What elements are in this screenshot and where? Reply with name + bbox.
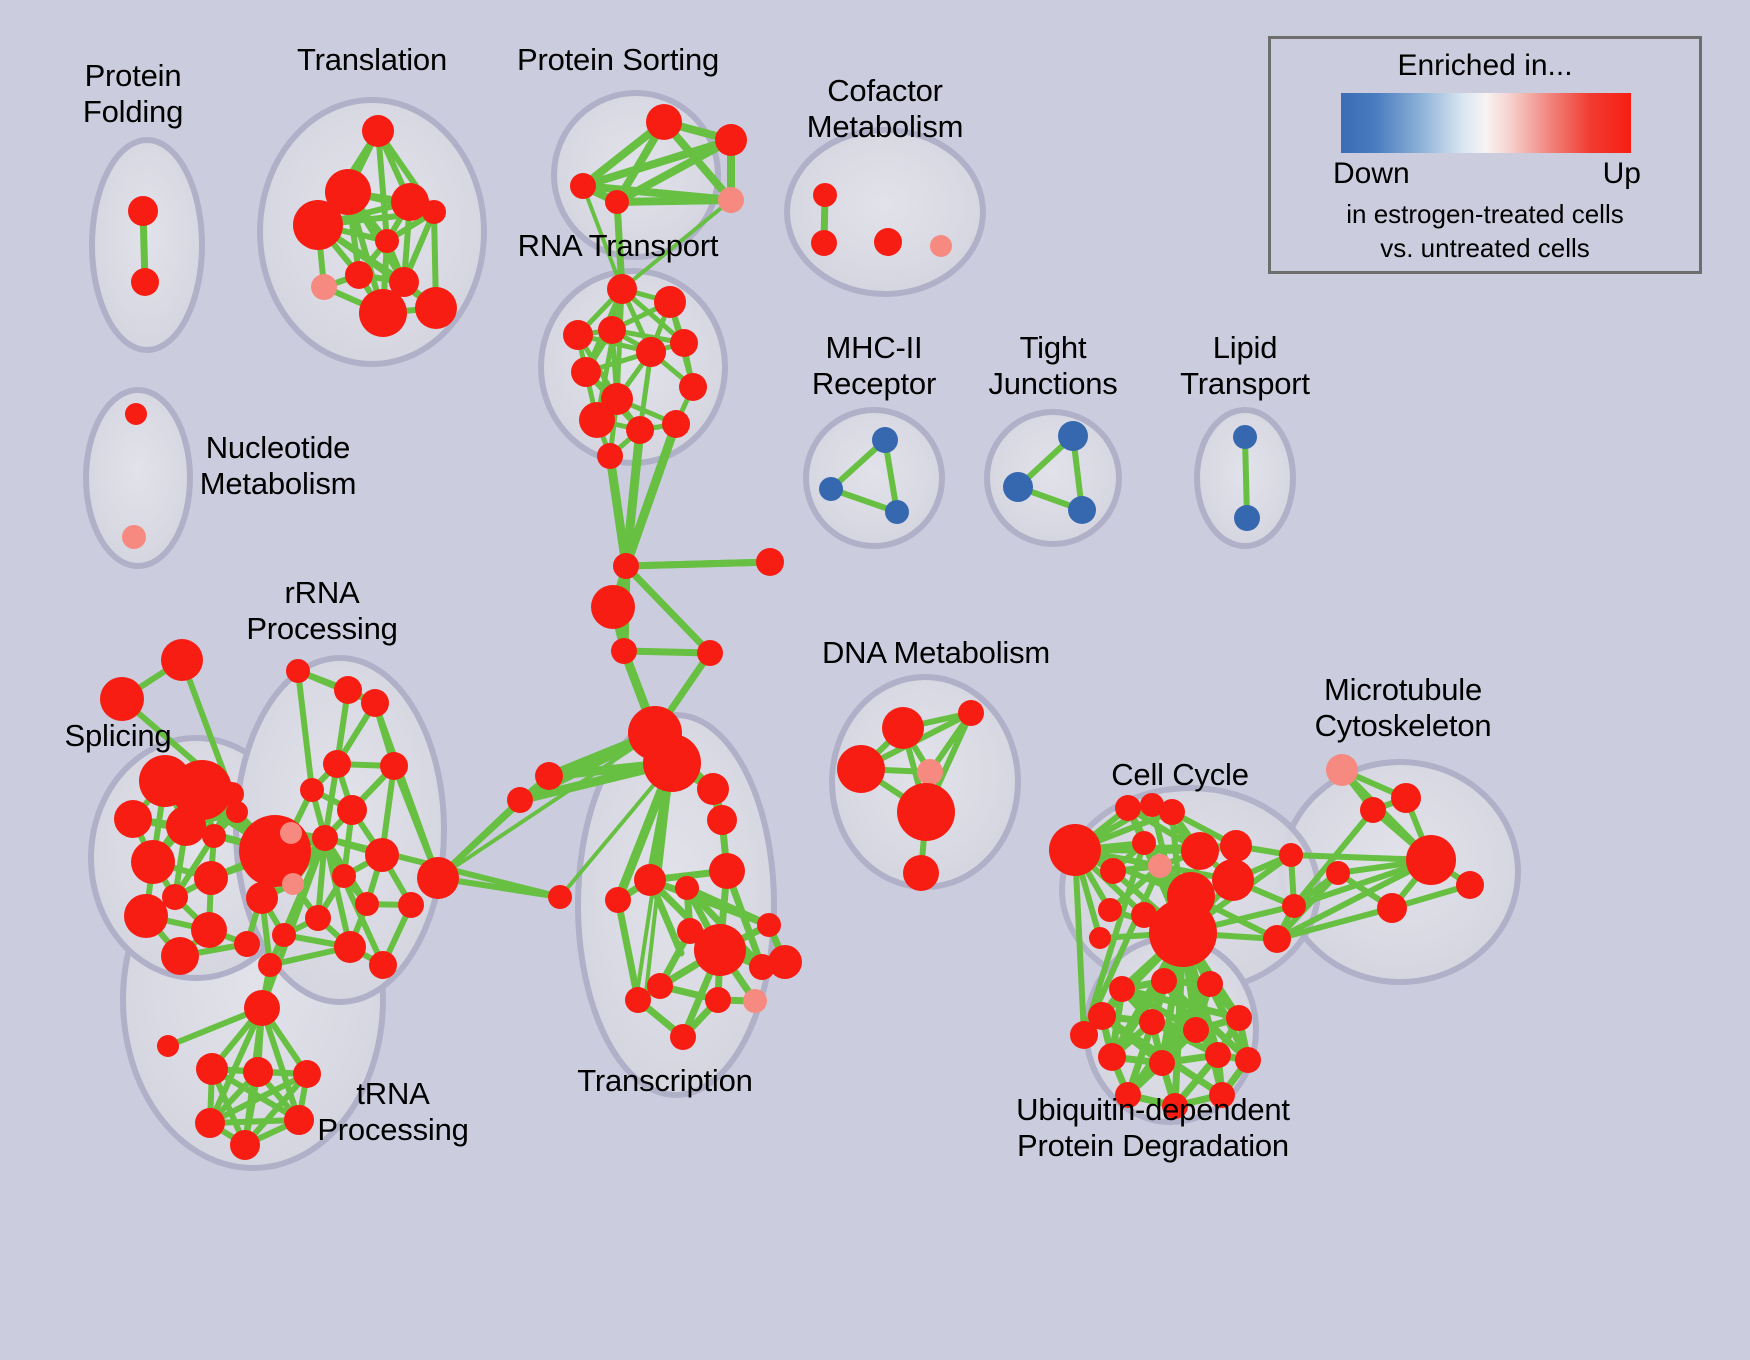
- gene-set-node[interactable]: [1326, 754, 1358, 786]
- legend-color-gradient: [1341, 93, 1631, 153]
- gene-set-node[interactable]: [1058, 421, 1088, 451]
- gene-set-node[interactable]: [362, 115, 394, 147]
- gene-set-node[interactable]: [570, 173, 596, 199]
- gene-set-node[interactable]: [1282, 894, 1306, 918]
- gene-set-node[interactable]: [718, 187, 744, 213]
- gene-set-node[interactable]: [1100, 858, 1126, 884]
- gene-set-node[interactable]: [1209, 1082, 1235, 1108]
- gene-set-node[interactable]: [162, 884, 188, 910]
- gene-set-node[interactable]: [1149, 1050, 1175, 1076]
- gene-set-node[interactable]: [837, 745, 885, 793]
- gene-set-node[interactable]: [311, 274, 337, 300]
- gene-set-node[interactable]: [244, 990, 280, 1026]
- gene-set-node[interactable]: [359, 289, 407, 337]
- gene-set-node[interactable]: [1049, 824, 1101, 876]
- gene-set-node[interactable]: [355, 892, 379, 916]
- gene-set-node[interactable]: [1132, 831, 1156, 855]
- legend-low-label: Down: [1333, 157, 1410, 191]
- gene-set-node[interactable]: [334, 931, 366, 963]
- gene-set-node[interactable]: [230, 1130, 260, 1160]
- gene-set-node[interactable]: [1234, 505, 1260, 531]
- gene-set-node[interactable]: [1226, 1005, 1252, 1031]
- gene-set-node[interactable]: [1151, 968, 1177, 994]
- gene-set-node[interactable]: [398, 892, 424, 918]
- gene-set-node[interactable]: [1212, 859, 1254, 901]
- gene-set-node[interactable]: [605, 887, 631, 913]
- gene-set-node[interactable]: [305, 905, 331, 931]
- gene-set-node[interactable]: [191, 912, 227, 948]
- gene-set-node[interactable]: [124, 894, 168, 938]
- gene-set-node[interactable]: [284, 1105, 314, 1135]
- gene-set-node[interactable]: [1098, 1043, 1126, 1071]
- gene-set-node[interactable]: [679, 373, 707, 401]
- legend-subtitle-line2: vs. untreated cells: [1271, 233, 1699, 264]
- gene-set-node[interactable]: [258, 953, 282, 977]
- gene-set-node[interactable]: [1220, 830, 1252, 862]
- gene-set-node[interactable]: [626, 416, 654, 444]
- gene-set-node[interactable]: [122, 525, 146, 549]
- gene-set-node[interactable]: [1233, 425, 1257, 449]
- gene-set-node[interactable]: [662, 410, 690, 438]
- gene-set-node[interactable]: [1326, 861, 1350, 885]
- gene-set-node[interactable]: [930, 235, 952, 257]
- gene-set-node[interactable]: [157, 1035, 179, 1057]
- gene-set-node[interactable]: [563, 320, 593, 350]
- gene-set-node[interactable]: [872, 427, 898, 453]
- gene-set-node[interactable]: [903, 855, 939, 891]
- gene-set-node[interactable]: [1235, 1047, 1261, 1073]
- gene-set-node[interactable]: [597, 443, 623, 469]
- gene-set-node[interactable]: [749, 954, 775, 980]
- gene-set-node[interactable]: [636, 337, 666, 367]
- gene-set-node[interactable]: [709, 853, 745, 889]
- gene-set-node[interactable]: [375, 229, 399, 253]
- gene-set-node[interactable]: [1159, 799, 1185, 825]
- gene-set-node[interactable]: [1263, 925, 1291, 953]
- legend-title: Enriched in...: [1271, 49, 1699, 83]
- gene-set-node[interactable]: [715, 124, 747, 156]
- gene-set-node[interactable]: [1181, 832, 1219, 870]
- gene-set-node[interactable]: [756, 548, 784, 576]
- gene-set-node[interactable]: [694, 924, 746, 976]
- gene-set-node[interactable]: [697, 640, 723, 666]
- gene-set-node[interactable]: [293, 1060, 321, 1088]
- gene-set-node[interactable]: [195, 1108, 225, 1138]
- gene-set-node[interactable]: [613, 553, 639, 579]
- gene-set-node[interactable]: [246, 882, 278, 914]
- gene-set-node[interactable]: [897, 783, 955, 841]
- gene-set-node[interactable]: [1205, 1042, 1231, 1068]
- gene-set-node[interactable]: [813, 183, 837, 207]
- gene-set-node[interactable]: [697, 773, 729, 805]
- gene-set-node[interactable]: [1068, 496, 1096, 524]
- gene-set-node[interactable]: [131, 268, 159, 296]
- gene-set-node[interactable]: [1183, 1017, 1209, 1043]
- gene-set-node[interactable]: [705, 987, 731, 1013]
- gene-set-node[interactable]: [1279, 843, 1303, 867]
- gene-set-node[interactable]: [125, 403, 147, 425]
- gene-set-node[interactable]: [579, 402, 615, 438]
- gene-set-node[interactable]: [272, 923, 296, 947]
- gene-set-node[interactable]: [874, 228, 902, 256]
- gene-set-node[interactable]: [100, 677, 144, 721]
- gene-set-node[interactable]: [361, 689, 389, 717]
- gene-set-node[interactable]: [1162, 1093, 1188, 1119]
- gene-set-node[interactable]: [507, 787, 533, 813]
- gene-set-node[interactable]: [743, 989, 767, 1013]
- gene-set-node[interactable]: [128, 196, 158, 226]
- gene-set-node[interactable]: [1109, 976, 1135, 1002]
- gene-set-node[interactable]: [1360, 797, 1386, 823]
- gene-set-node[interactable]: [598, 316, 626, 344]
- gene-set-node[interactable]: [422, 200, 446, 224]
- gene-set-node[interactable]: [323, 750, 351, 778]
- gene-set-node[interactable]: [646, 104, 682, 140]
- gene-set-node[interactable]: [369, 951, 397, 979]
- gene-set-node[interactable]: [548, 885, 572, 909]
- gene-set-node[interactable]: [286, 659, 310, 683]
- gene-set-node[interactable]: [757, 913, 781, 937]
- gene-set-node[interactable]: [958, 700, 984, 726]
- gene-set-node[interactable]: [634, 864, 666, 896]
- gene-set-node[interactable]: [917, 759, 943, 785]
- cluster-hull-cofactor-metabolism: [787, 130, 983, 294]
- legend-high-label: Up: [1603, 157, 1641, 191]
- legend-panel: Enriched in... Down Up in estrogen-treat…: [1268, 36, 1702, 274]
- gene-set-node[interactable]: [334, 676, 362, 704]
- gene-set-node[interactable]: [591, 585, 635, 629]
- gene-set-node[interactable]: [1139, 1009, 1165, 1035]
- gene-set-node[interactable]: [166, 806, 206, 846]
- gene-set-node[interactable]: [131, 840, 175, 884]
- network-surface: Protein Folding Translation Protein Sort…: [0, 0, 1750, 1360]
- gene-set-node[interactable]: [280, 822, 302, 844]
- gene-set-node[interactable]: [1115, 795, 1141, 821]
- gene-set-node[interactable]: [1088, 1002, 1116, 1030]
- gene-set-node[interactable]: [312, 825, 338, 851]
- gene-set-node[interactable]: [819, 477, 843, 501]
- gene-set-node[interactable]: [811, 230, 837, 256]
- gene-set-node[interactable]: [282, 873, 304, 895]
- gene-set-node[interactable]: [202, 824, 226, 848]
- gene-set-node[interactable]: [1089, 927, 1111, 949]
- gene-set-node[interactable]: [161, 937, 199, 975]
- gene-set-node[interactable]: [1098, 898, 1122, 922]
- gene-set-node[interactable]: [625, 987, 651, 1013]
- gene-set-node[interactable]: [882, 707, 924, 749]
- gene-set-node[interactable]: [243, 1057, 273, 1087]
- edges-spine-branches: [613, 562, 770, 733]
- gene-set-node[interactable]: [1391, 783, 1421, 813]
- gene-set-node[interactable]: [571, 357, 601, 387]
- gene-set-node[interactable]: [415, 287, 457, 329]
- gene-set-node[interactable]: [1148, 854, 1172, 878]
- gene-set-node[interactable]: [670, 329, 698, 357]
- gene-set-node[interactable]: [345, 261, 373, 289]
- gene-set-node[interactable]: [654, 286, 686, 318]
- gene-set-node[interactable]: [300, 778, 324, 802]
- gene-set-node[interactable]: [643, 734, 701, 792]
- gene-set-node[interactable]: [670, 1024, 696, 1050]
- gene-set-node[interactable]: [161, 639, 203, 681]
- gene-set-node[interactable]: [1003, 472, 1033, 502]
- gene-set-node[interactable]: [647, 973, 673, 999]
- gene-set-node[interactable]: [380, 752, 408, 780]
- gene-set-node[interactable]: [611, 638, 637, 664]
- gene-set-node[interactable]: [196, 1053, 228, 1085]
- gene-set-node[interactable]: [1149, 899, 1217, 967]
- gene-set-node[interactable]: [605, 190, 629, 214]
- gene-set-node[interactable]: [885, 500, 909, 524]
- gene-set-node[interactable]: [1456, 871, 1484, 899]
- figure-canvas: Protein Folding Translation Protein Sort…: [0, 0, 1750, 1360]
- gene-set-node[interactable]: [337, 795, 367, 825]
- gene-set-node[interactable]: [535, 762, 563, 790]
- gene-set-node[interactable]: [194, 861, 228, 895]
- gene-set-node[interactable]: [226, 801, 248, 823]
- gene-set-node[interactable]: [1377, 893, 1407, 923]
- gene-set-node[interactable]: [365, 838, 399, 872]
- gene-set-node[interactable]: [707, 805, 737, 835]
- gene-set-node[interactable]: [293, 200, 343, 250]
- gene-set-node[interactable]: [607, 274, 637, 304]
- legend-subtitle-line1: in estrogen-treated cells: [1271, 199, 1699, 230]
- gene-set-node[interactable]: [234, 931, 260, 957]
- gene-set-node[interactable]: [1115, 1082, 1141, 1108]
- gene-set-node[interactable]: [1406, 835, 1456, 885]
- gene-set-node[interactable]: [332, 864, 356, 888]
- gene-set-node[interactable]: [1197, 971, 1223, 997]
- gene-set-node[interactable]: [114, 800, 152, 838]
- gene-set-node[interactable]: [417, 857, 459, 899]
- gene-set-node[interactable]: [675, 876, 699, 900]
